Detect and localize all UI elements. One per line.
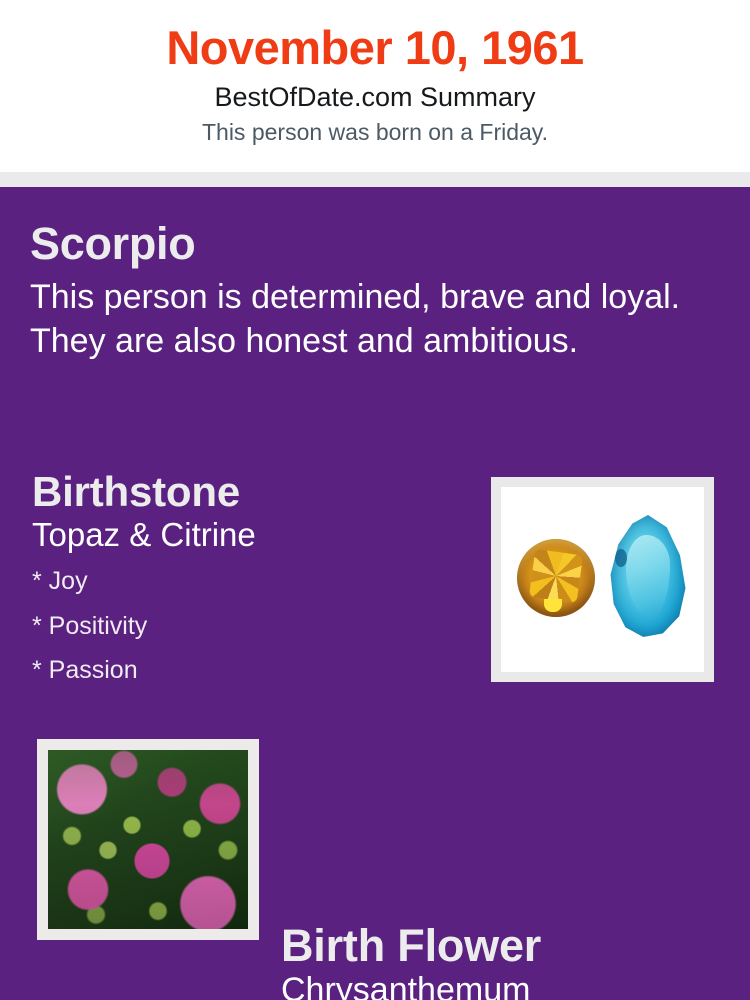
birthstone-title: Birthstone [32,470,472,514]
birth-flower-title: Birth Flower [281,922,731,969]
site-name: BestOfDate.com Summary [0,75,750,113]
birthstone-image-inner [501,487,704,672]
birthstone-name: Topaz & Citrine [32,514,472,553]
zodiac-block: Scorpio This person is determined, brave… [30,220,710,364]
birthstone-trait-list: * Joy * Positivity * Passion [32,553,472,693]
zodiac-description: This person is determined, brave and loy… [30,267,690,363]
header-divider [0,172,750,187]
page-title-date: November 10, 1961 [0,0,750,75]
summary-infographic: November 10, 1961 BestOfDate.com Summary… [0,0,750,1000]
birthstone-text: Birthstone Topaz & Citrine * Joy * Posit… [32,470,472,693]
list-item: * Passion [32,648,472,693]
citrine-gem-icon [517,539,595,617]
birth-flower-image [37,739,259,940]
zodiac-sign-title: Scorpio [30,220,710,267]
list-item: * Positivity [32,604,472,649]
blue-topaz-gem-icon [609,515,687,637]
birthstone-image [491,477,714,682]
header: November 10, 1961 BestOfDate.com Summary… [0,0,750,172]
list-item: * Joy [32,559,472,604]
birth-day-note: This person was born on a Friday. [0,112,750,145]
chrysanthemum-photo [48,750,248,929]
birth-flower-name: Chrysanthemum [281,969,731,1000]
birth-flower-text: Birth Flower Chrysanthemum * Loyalty * H… [281,922,731,1000]
